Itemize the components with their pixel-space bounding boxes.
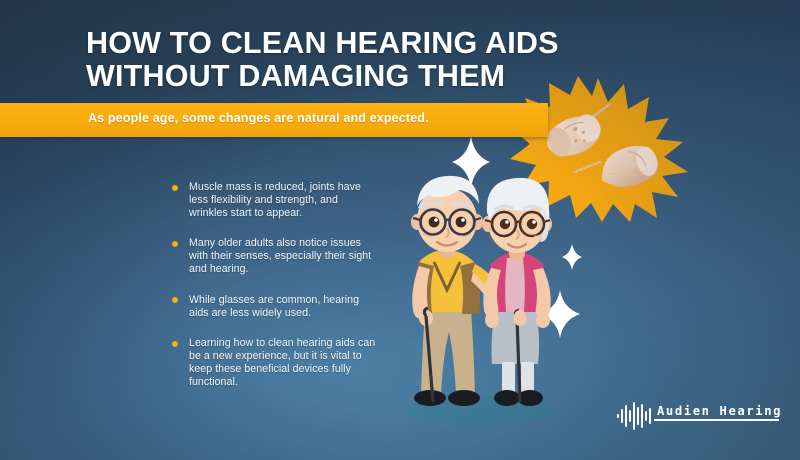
bullet-dot-icon — [172, 297, 178, 303]
list-item-text: Many older adults also notice issues wit… — [189, 237, 371, 275]
infographic-canvas: HOW TO CLEAN HEARING AIDS WITHOUT DAMAGI… — [0, 0, 800, 460]
brand-name: Audien Hearing — [657, 404, 782, 418]
title-line-1: HOW TO CLEAN HEARING AIDS — [86, 27, 566, 60]
list-item: Muscle mass is reduced, joints have less… — [168, 181, 378, 219]
list-item: Many older adults also notice issues wit… — [168, 237, 378, 275]
page-title: HOW TO CLEAN HEARING AIDS WITHOUT DAMAGI… — [86, 27, 566, 93]
list-item-text: While glasses are common, hearing aids a… — [189, 294, 359, 319]
waveform-icon — [617, 402, 651, 430]
bullet-dot-icon — [172, 341, 178, 347]
title-line-2: WITHOUT DAMAGING THEM — [86, 60, 566, 93]
list-item: Learning how to clean hearing aids can b… — [168, 337, 378, 388]
bullet-dot-icon — [172, 185, 178, 191]
bullet-dot-icon — [172, 241, 178, 247]
subtitle-text: As people age, some changes are natural … — [88, 111, 429, 125]
list-item-text: Muscle mass is reduced, joints have less… — [189, 181, 361, 219]
list-item-text: Learning how to clean hearing aids can b… — [189, 337, 375, 387]
list-item: While glasses are common, hearing aids a… — [168, 294, 378, 320]
bullet-list: Muscle mass is reduced, joints have less… — [168, 181, 378, 389]
